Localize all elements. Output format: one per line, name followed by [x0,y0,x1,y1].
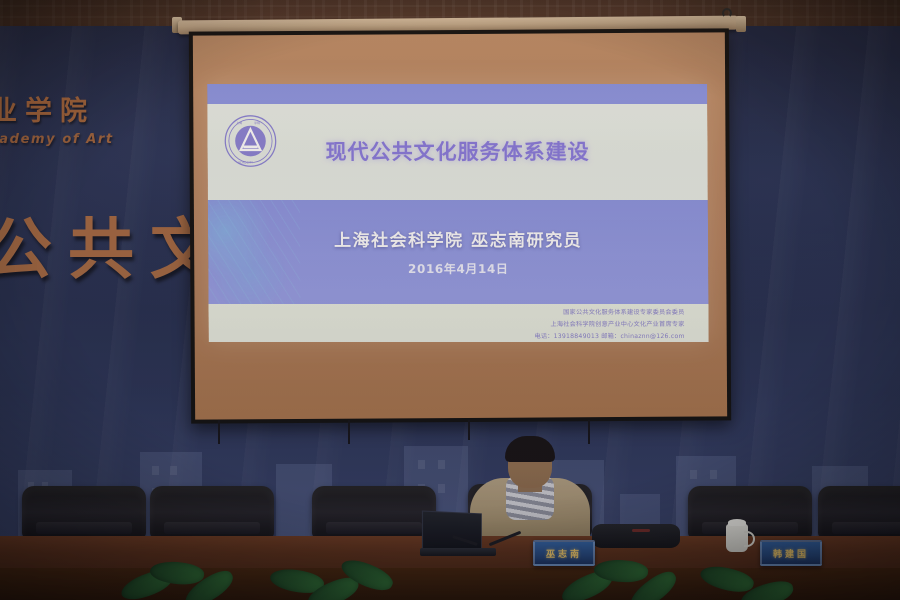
svg-text:学院: 学院 [254,120,260,125]
projection-screen-surface: 上海 学院 ACADEMY 现代公共文化服务体系建设 上海社会科学院 巫志南研究… [193,32,727,419]
slide-footer: 国家公共文化服务体系建设专家委员会委员 上海社会科学院创意产业中心文化产业首席专… [208,304,708,342]
chair-1 [22,486,146,538]
chair-3 [312,486,436,538]
speaker [470,440,590,550]
plant-center [270,542,400,600]
slide-footer-line-2: 上海社会科学院创意产业中心文化产业首席专家 [209,319,709,331]
plant-right [700,542,830,600]
chair-2 [150,486,274,538]
svg-text:上海: 上海 [236,120,242,125]
banner-institution: 业学院 cademy of Art [0,98,200,147]
banner-institution-cn: 业学院 [0,98,200,126]
slide-top-band [207,84,707,104]
slide-footer-line-1: 国家公共文化服务体系建设专家委员会委员 [208,307,708,319]
banner-institution-en: cademy of Art [0,132,200,147]
screen-hanging-cords [190,420,730,450]
slide-presenter: 上海社会科学院 巫志南研究员 [208,226,708,251]
projection-screen: 上海 学院 ACADEMY 现代公共文化服务体系建设 上海社会科学院 巫志南研究… [189,28,731,423]
screen-roller-cap-right [736,16,746,32]
plant-speaker [560,542,690,600]
plant-left [120,542,250,600]
photograph-scene: 业学院 cademy of Art 公共文化 与发展研 上海 学院 [0,0,900,600]
laptop-base [420,548,496,556]
slide-band-decoration [208,200,301,304]
slide-title: 现代公共文化服务体系建设 [207,136,707,166]
speaker-hair [505,436,555,462]
chair-6 [818,486,900,538]
slide-date: 2016年4月14日 [208,260,708,277]
presentation-slide: 上海 学院 ACADEMY 现代公共文化服务体系建设 上海社会科学院 巫志南研究… [207,84,709,342]
chair-5 [688,486,812,538]
screen-hook-icon [722,8,732,18]
slide-footer-line-3: 电话：13918849013 邮箱：chinaznn@126.com [209,331,709,342]
